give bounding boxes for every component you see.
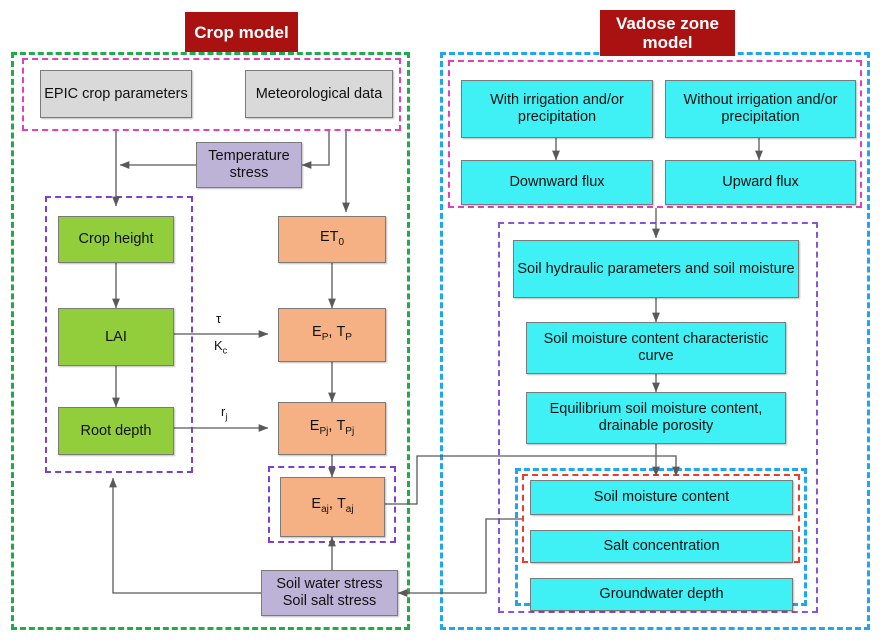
banner-vadose-zone-model: Vadose zone model — [600, 10, 735, 56]
box-with-irrigation-label: With irrigation and/or precipitation — [462, 92, 652, 126]
box-with-irrigation[interactable]: With irrigation and/or precipitation — [461, 80, 653, 138]
box-groundwater-depth[interactable]: Groundwater depth — [530, 578, 793, 611]
box-eaj-taj-label: Eaj, Taj — [311, 496, 353, 518]
tp-sub: P — [345, 332, 352, 343]
box-equilibrium-soil-moisture[interactable]: Equilibrium soil moisture content, drain… — [526, 392, 786, 444]
box-without-irrigation-label: Without irrigation and/or precipitation — [666, 92, 855, 126]
box-upward-flux-label: Upward flux — [722, 174, 799, 191]
box-meteorological-data[interactable]: Meteorological data — [245, 70, 393, 118]
banner-crop-model: Crop model — [185, 12, 298, 52]
edge-label-kc-sub: c — [223, 346, 228, 356]
box-downward-flux-label: Downward flux — [509, 174, 604, 191]
box-groundwater-depth-label: Groundwater depth — [599, 586, 723, 603]
box-equilibrium-soil-moisture-label: Equilibrium soil moisture content, drain… — [527, 401, 785, 435]
box-soil-stress[interactable]: Soil water stress Soil salt stress — [261, 570, 398, 616]
edge-label-rj-sub: j — [225, 412, 227, 422]
box-et0[interactable]: ET0 — [278, 216, 386, 263]
box-soil-moisture-content[interactable]: Soil moisture content — [530, 480, 793, 515]
banner-crop-model-label: Crop model — [194, 23, 288, 42]
box-epj-tpj[interactable]: EPj, TPj — [278, 402, 386, 455]
eaj-sub: aj — [321, 504, 329, 515]
box-crop-height[interactable]: Crop height — [58, 216, 174, 263]
box-epj-tpj-label: EPj, TPj — [310, 418, 354, 440]
taj-sub: aj — [346, 504, 354, 515]
box-soil-moisture-content-label: Soil moisture content — [594, 489, 729, 506]
box-soil-hydraulic-parameters-label: Soil hydraulic parameters and soil moist… — [517, 261, 794, 278]
tpj-base: T — [336, 418, 345, 434]
box-ep-tp-label: EP, TP — [312, 324, 352, 346]
box-meteorological-data-label: Meteorological data — [256, 86, 383, 103]
box-ep-tp[interactable]: EP, TP — [278, 308, 386, 362]
box-upward-flux[interactable]: Upward flux — [665, 160, 856, 205]
box-eaj-taj[interactable]: Eaj, Taj — [280, 477, 385, 537]
box-epic-crop-parameters[interactable]: EPIC crop parameters — [40, 70, 192, 118]
edge-label-kc: Kc — [214, 338, 227, 356]
et0-base: ET — [320, 229, 339, 245]
taj-base: T — [337, 496, 346, 512]
eaj-base: E — [311, 496, 321, 512]
ep-base: E — [312, 324, 322, 340]
tp-base: T — [336, 324, 345, 340]
box-soil-moisture-curve-label: Soil moisture content characteristic cur… — [527, 331, 785, 365]
edge-label-tau: τ — [216, 311, 221, 326]
box-salt-concentration-label: Salt concentration — [603, 538, 719, 555]
box-soil-hydraulic-parameters[interactable]: Soil hydraulic parameters and soil moist… — [513, 240, 799, 298]
box-crop-height-label: Crop height — [79, 231, 154, 248]
tpj-sub: Pj — [345, 425, 354, 436]
box-epic-crop-parameters-label: EPIC crop parameters — [44, 86, 187, 103]
box-et0-label: ET0 — [320, 229, 344, 251]
soil-water-stress-label: Soil water stress — [276, 576, 382, 593]
banner-vadose-zone-model-label: Vadose zone model — [600, 14, 735, 52]
box-temperature-stress-label: Temperature stress — [197, 148, 301, 182]
box-salt-concentration[interactable]: Salt concentration — [530, 530, 793, 563]
flowchart-canvas: Crop model Vadose zone model EPIC crop p… — [0, 0, 883, 644]
edge-label-kc-text: K — [214, 338, 223, 353]
box-temperature-stress[interactable]: Temperature stress — [196, 142, 302, 188]
edge-label-rj: rj — [221, 404, 227, 422]
soil-salt-stress-label: Soil salt stress — [283, 593, 376, 610]
box-lai[interactable]: LAI — [58, 308, 174, 366]
edge-label-tau-text: τ — [216, 311, 221, 326]
box-without-irrigation[interactable]: Without irrigation and/or precipitation — [665, 80, 856, 138]
box-root-depth[interactable]: Root depth — [58, 407, 174, 455]
box-root-depth-label: Root depth — [81, 423, 152, 440]
comma-3: , — [329, 496, 337, 512]
box-downward-flux[interactable]: Downward flux — [461, 160, 653, 205]
box-lai-label: LAI — [105, 329, 127, 346]
et0-sub: 0 — [338, 236, 344, 247]
box-soil-moisture-curve[interactable]: Soil moisture content characteristic cur… — [526, 322, 786, 374]
